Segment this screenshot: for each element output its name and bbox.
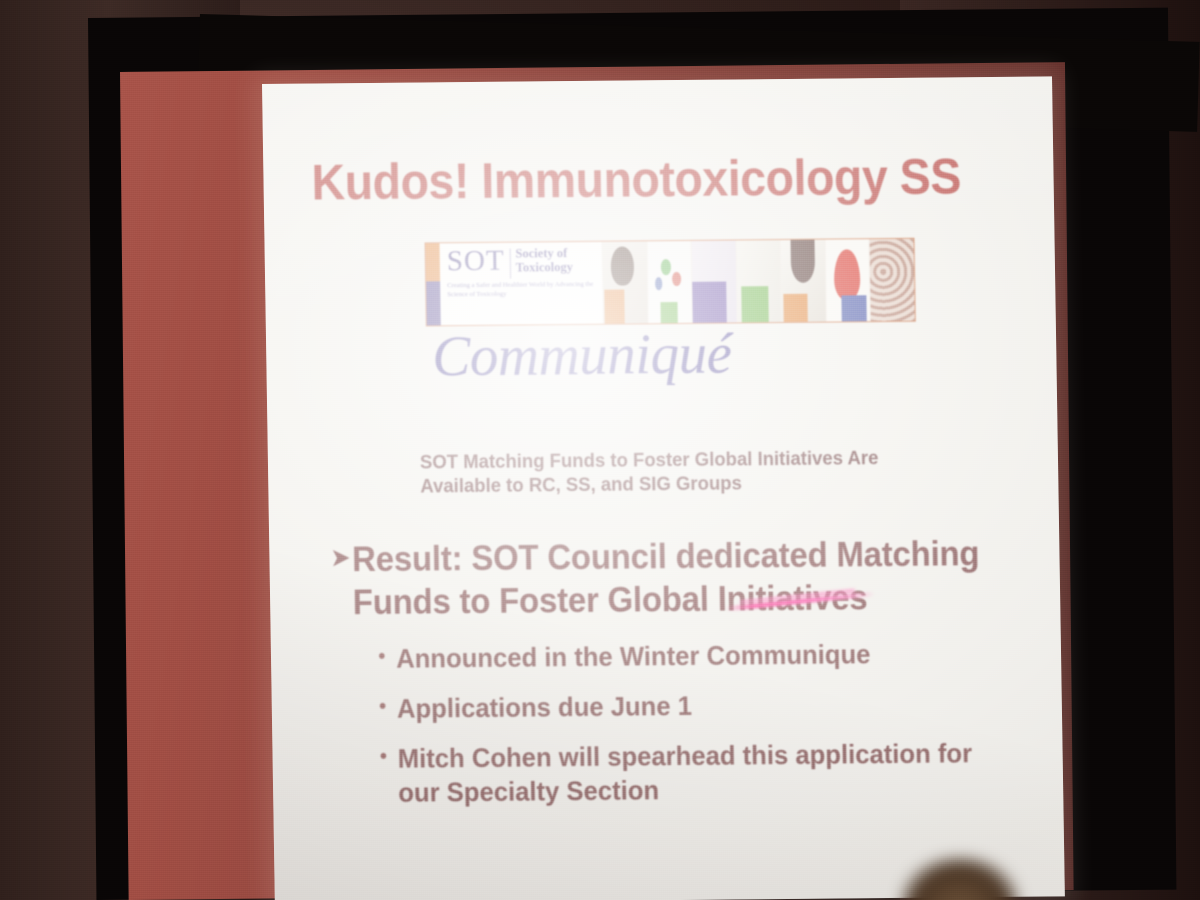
collage-cell-red-flask bbox=[824, 239, 870, 321]
sub-bullet-text: Announced in the Winter Communique bbox=[396, 640, 871, 675]
sot-logo-text: SOT Society of Toxicology Creating a Saf… bbox=[440, 242, 603, 326]
sub-bullet-item: Applications due June 1 bbox=[380, 686, 1002, 726]
slide-content: Kudos! Immunotoxicology SS SOT bbox=[262, 76, 1065, 900]
sub-bullet-text: Applications due June 1 bbox=[397, 691, 692, 724]
swatch-green-1 bbox=[660, 302, 678, 323]
collage-cell-purple bbox=[691, 240, 737, 322]
sot-org-line2: Toxicology bbox=[516, 260, 573, 275]
dot-bullet-icon bbox=[380, 703, 386, 709]
dark-funnel-shape bbox=[790, 240, 815, 283]
sot-org-line1: Society of bbox=[515, 246, 567, 260]
collage-cell-molecule bbox=[646, 241, 692, 323]
slide-body: ➤ Result: SOT Council dedicated Matching… bbox=[331, 533, 1035, 827]
communique-wordmark: Communiqué bbox=[426, 324, 917, 387]
sub-bullet-text: Mitch Cohen will spearhead this applicat… bbox=[397, 739, 972, 809]
purple-bar bbox=[426, 281, 441, 325]
sot-logo-color-bars bbox=[426, 243, 441, 325]
sub-bullet-list: Announced in the Winter Communique Appli… bbox=[333, 636, 1036, 811]
scientist-head-shape bbox=[610, 246, 633, 286]
sot-logo-row: SOT Society of Toxicology bbox=[447, 247, 598, 279]
sot-banner-photo-collage bbox=[602, 239, 915, 324]
sot-logo-tagline: Creating a Safer and Healthier World by … bbox=[447, 281, 597, 300]
sot-banner: SOT Society of Toxicology Creating a Saf… bbox=[425, 238, 916, 327]
molecule-dot-red bbox=[672, 272, 681, 286]
sot-communique-masthead: SOT Society of Toxicology Creating a Saf… bbox=[425, 238, 917, 387]
swatch-green-2 bbox=[741, 286, 769, 322]
photo-scene: Kudos! Immunotoxicology SS SOT bbox=[0, 0, 1200, 900]
collage-cell-funnel bbox=[780, 240, 826, 322]
collage-cell-scientist bbox=[602, 241, 648, 323]
sub-bullet-item: Announced in the Winter Communique bbox=[379, 636, 1001, 676]
collage-cell-green bbox=[735, 240, 781, 322]
collage-cell-tissue bbox=[869, 239, 915, 321]
main-bullet-text: Result: SOT Council dedicated Matching F… bbox=[352, 534, 980, 622]
slide-subheading: SOT Matching Funds to Foster Global Init… bbox=[420, 446, 915, 499]
sot-acronym: SOT bbox=[447, 248, 505, 275]
main-bullet: ➤ Result: SOT Council dedicated Matching… bbox=[331, 533, 990, 625]
projected-slide: Kudos! Immunotoxicology SS SOT bbox=[262, 76, 1065, 900]
swatch-blue-1 bbox=[841, 295, 867, 321]
sub-bullet-item: Mitch Cohen will spearhead this applicat… bbox=[380, 736, 1002, 810]
swatch-orange-2 bbox=[783, 294, 807, 322]
swatch-orange-1 bbox=[604, 289, 625, 324]
orange-bar bbox=[426, 243, 441, 281]
slide-title: Kudos! Immunotoxicology SS bbox=[311, 151, 981, 207]
sot-org-name: Society of Toxicology bbox=[515, 247, 573, 275]
arrow-bullet-icon: ➤ bbox=[331, 546, 349, 569]
dot-bullet-icon bbox=[381, 753, 387, 759]
tissue-micrograph-photo bbox=[870, 239, 915, 321]
swatch-purple-1 bbox=[692, 282, 727, 323]
logo-divider bbox=[509, 249, 510, 279]
dot-bullet-icon bbox=[379, 653, 385, 659]
sot-logo: SOT Society of Toxicology Creating a Saf… bbox=[426, 242, 603, 326]
